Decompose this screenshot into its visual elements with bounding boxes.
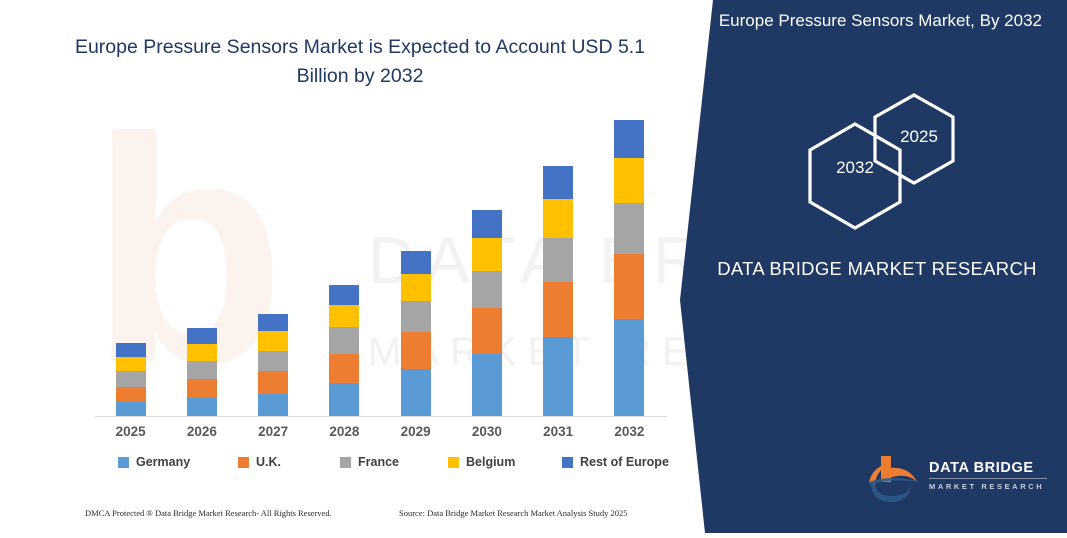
bar-group-2032[interactable]: [614, 120, 644, 417]
bar-segment-2026-belgium[interactable]: [187, 344, 217, 361]
bar-segment-2031-rest-of-europe[interactable]: [543, 166, 573, 199]
bar-group-2027[interactable]: [258, 314, 288, 417]
bar-segment-2032-belgium[interactable]: [614, 158, 644, 204]
bar-segment-2025-france[interactable]: [116, 371, 146, 386]
logo-divider: [929, 478, 1047, 479]
x-axis-label-2029: 2029: [386, 424, 446, 439]
footer-source-note: Source: Data Bridge Market Research Mark…: [399, 508, 628, 518]
x-axis-label-2026: 2026: [172, 424, 232, 439]
bar-segment-2027-france[interactable]: [258, 351, 288, 372]
legend-swatch-icon: [238, 457, 249, 468]
logo-wordmark: DATA BRIDGE MARKET RESEARCH: [929, 460, 1049, 491]
legend-swatch-icon: [340, 457, 351, 468]
legend-label: U.K.: [256, 455, 281, 469]
left-panel: Europe Pressure Sensors Market is Expect…: [0, 0, 720, 533]
bar-group-2026[interactable]: [187, 328, 217, 417]
bar-segment-2026-germany[interactable]: [187, 398, 217, 417]
x-axis-line: [95, 416, 667, 417]
bar-segment-2032-rest-of-europe[interactable]: [614, 120, 644, 158]
legend-label: Germany: [136, 455, 190, 469]
legend-item-germany[interactable]: Germany: [118, 455, 190, 469]
legend-label: France: [358, 455, 399, 469]
bar-segment-2029-rest-of-europe[interactable]: [401, 251, 431, 274]
bar-segment-2028-france[interactable]: [329, 327, 359, 353]
bar-segment-2027-germany[interactable]: [258, 394, 288, 417]
bar-segment-2030-rest-of-europe[interactable]: [472, 210, 502, 238]
right-navy-panel: Europe Pressure Sensors Market, By 2032 …: [672, 0, 1067, 533]
bar-segment-2025-u-k-[interactable]: [116, 387, 146, 402]
brand-name: DATA BRIDGE MARKET RESEARCH: [712, 255, 1042, 283]
x-axis-label-2028: 2028: [314, 424, 374, 439]
legend-item-belgium[interactable]: Belgium: [448, 455, 515, 469]
bar-segment-2029-germany[interactable]: [401, 369, 431, 417]
x-axis-label-2032: 2032: [599, 424, 659, 439]
logo-name: DATA BRIDGE: [929, 460, 1049, 476]
bar-segment-2030-germany[interactable]: [472, 354, 502, 417]
x-axis-label-2025: 2025: [101, 424, 161, 439]
hexagon-2025-label: 2025: [884, 127, 954, 147]
bar-segment-2025-belgium[interactable]: [116, 357, 146, 371]
chart-plot-area: [95, 110, 665, 417]
legend-swatch-icon: [118, 457, 129, 468]
bar-group-2025[interactable]: [116, 343, 146, 417]
bar-segment-2031-belgium[interactable]: [543, 199, 573, 238]
bar-segment-2030-u-k-[interactable]: [472, 308, 502, 354]
bar-group-2028[interactable]: [329, 285, 359, 417]
x-axis-label-2030: 2030: [457, 424, 517, 439]
bar-segment-2029-france[interactable]: [401, 301, 431, 332]
logo-mark-icon: [867, 452, 923, 504]
legend-label: Rest of Europe: [580, 455, 669, 469]
x-axis-label-2031: 2031: [528, 424, 588, 439]
x-axis-labels: 20252026202720282029203020312032: [95, 424, 667, 446]
bar-segment-2031-u-k-[interactable]: [543, 282, 573, 337]
bar-segment-2029-u-k-[interactable]: [401, 332, 431, 369]
legend-swatch-icon: [448, 457, 459, 468]
legend-item-u-k-[interactable]: U.K.: [238, 455, 281, 469]
bar-segment-2028-u-k-[interactable]: [329, 354, 359, 383]
bar-segment-2025-germany[interactable]: [116, 402, 146, 417]
data-bridge-logo: DATA BRIDGE MARKET RESEARCH: [867, 452, 1052, 508]
legend-item-rest-of-europe[interactable]: Rest of Europe: [562, 455, 669, 469]
bar-segment-2030-belgium[interactable]: [472, 238, 502, 270]
bar-group-2029[interactable]: [401, 251, 431, 417]
legend-label: Belgium: [466, 455, 515, 469]
bar-segment-2026-france[interactable]: [187, 361, 217, 379]
bar-segment-2027-belgium[interactable]: [258, 331, 288, 350]
bar-segment-2027-rest-of-europe[interactable]: [258, 314, 288, 331]
bar-group-2030[interactable]: [472, 210, 502, 417]
bar-group-2031[interactable]: [543, 166, 573, 417]
bar-segment-2028-germany[interactable]: [329, 383, 359, 417]
bar-segment-2029-belgium[interactable]: [401, 274, 431, 301]
bar-segment-2027-u-k-[interactable]: [258, 371, 288, 393]
footer-dmca-notice: DMCA Protected ® Data Bridge Market Rese…: [85, 508, 332, 518]
bar-segment-2031-germany[interactable]: [543, 337, 573, 417]
bar-segment-2030-france[interactable]: [472, 271, 502, 308]
bar-segment-2032-germany[interactable]: [614, 319, 644, 417]
stacked-bar-chart: 20252026202720282029203020312032: [0, 0, 720, 533]
bar-segment-2032-france[interactable]: [614, 203, 644, 254]
legend-swatch-icon: [562, 457, 573, 468]
x-axis-label-2027: 2027: [243, 424, 303, 439]
chart-legend: GermanyU.K.FranceBelgiumRest of Europe: [118, 455, 658, 477]
hexagon-2032-label: 2032: [820, 158, 890, 178]
bar-segment-2032-u-k-[interactable]: [614, 254, 644, 319]
footer: DMCA Protected ® Data Bridge Market Rese…: [0, 508, 700, 526]
legend-item-france[interactable]: France: [340, 455, 399, 469]
bar-segment-2025-rest-of-europe[interactable]: [116, 343, 146, 357]
logo-tagline: MARKET RESEARCH: [929, 482, 1049, 491]
bar-segment-2026-u-k-[interactable]: [187, 379, 217, 398]
bar-segment-2028-belgium[interactable]: [329, 305, 359, 328]
bar-segment-2028-rest-of-europe[interactable]: [329, 285, 359, 305]
bar-segment-2026-rest-of-europe[interactable]: [187, 328, 217, 344]
bar-segment-2031-france[interactable]: [543, 238, 573, 282]
